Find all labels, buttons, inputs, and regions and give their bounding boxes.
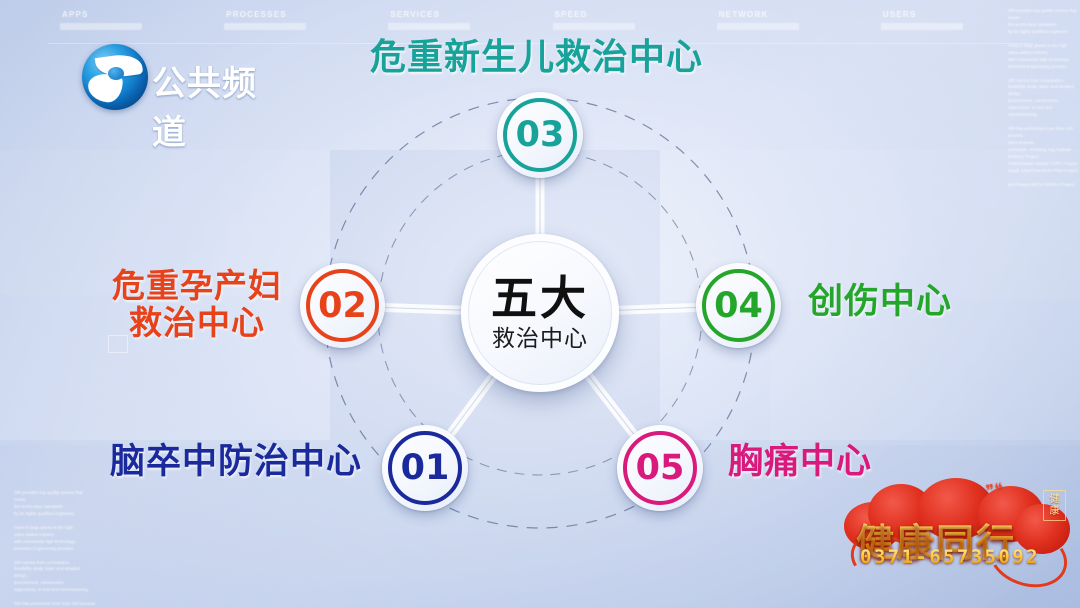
node-03[interactable]: 03 bbox=[497, 92, 583, 178]
node-01[interactable]: 01 bbox=[382, 425, 468, 511]
program-phone: 0371-65735092 bbox=[860, 546, 1040, 568]
slide-canvas: APPS PROCESSES SERVICES SPEED NETWORK US… bbox=[0, 0, 1080, 608]
node-05-number: 05 bbox=[636, 448, 685, 488]
node-05[interactable]: 05 bbox=[617, 425, 703, 511]
node-04-number: 04 bbox=[714, 286, 763, 326]
node-04-label: 创伤中心 bbox=[808, 283, 952, 322]
node-03-label: 危重新生儿救治中心 bbox=[370, 38, 703, 78]
bird-icon: ❞❝ bbox=[984, 479, 1004, 502]
node-01-label: 脑卒中防治中心 bbox=[110, 443, 362, 482]
center-node[interactable]: 五大 救治中心 bbox=[461, 234, 619, 392]
node-04[interactable]: 04 bbox=[696, 263, 781, 348]
program-stamp: 健康 bbox=[1043, 490, 1066, 521]
node-01-number: 01 bbox=[401, 448, 450, 488]
node-02[interactable]: 02 bbox=[300, 263, 385, 348]
center-title: 五大 bbox=[491, 275, 589, 321]
node-02-label: 危重孕产妇 救治中心 bbox=[112, 268, 282, 342]
center-subtitle: 救治中心 bbox=[492, 328, 588, 351]
node-03-number: 03 bbox=[516, 115, 565, 155]
program-logo: ❞❝ 健康同行 0371-65735092 健康 bbox=[838, 476, 1080, 602]
node-02-number: 02 bbox=[318, 286, 367, 326]
